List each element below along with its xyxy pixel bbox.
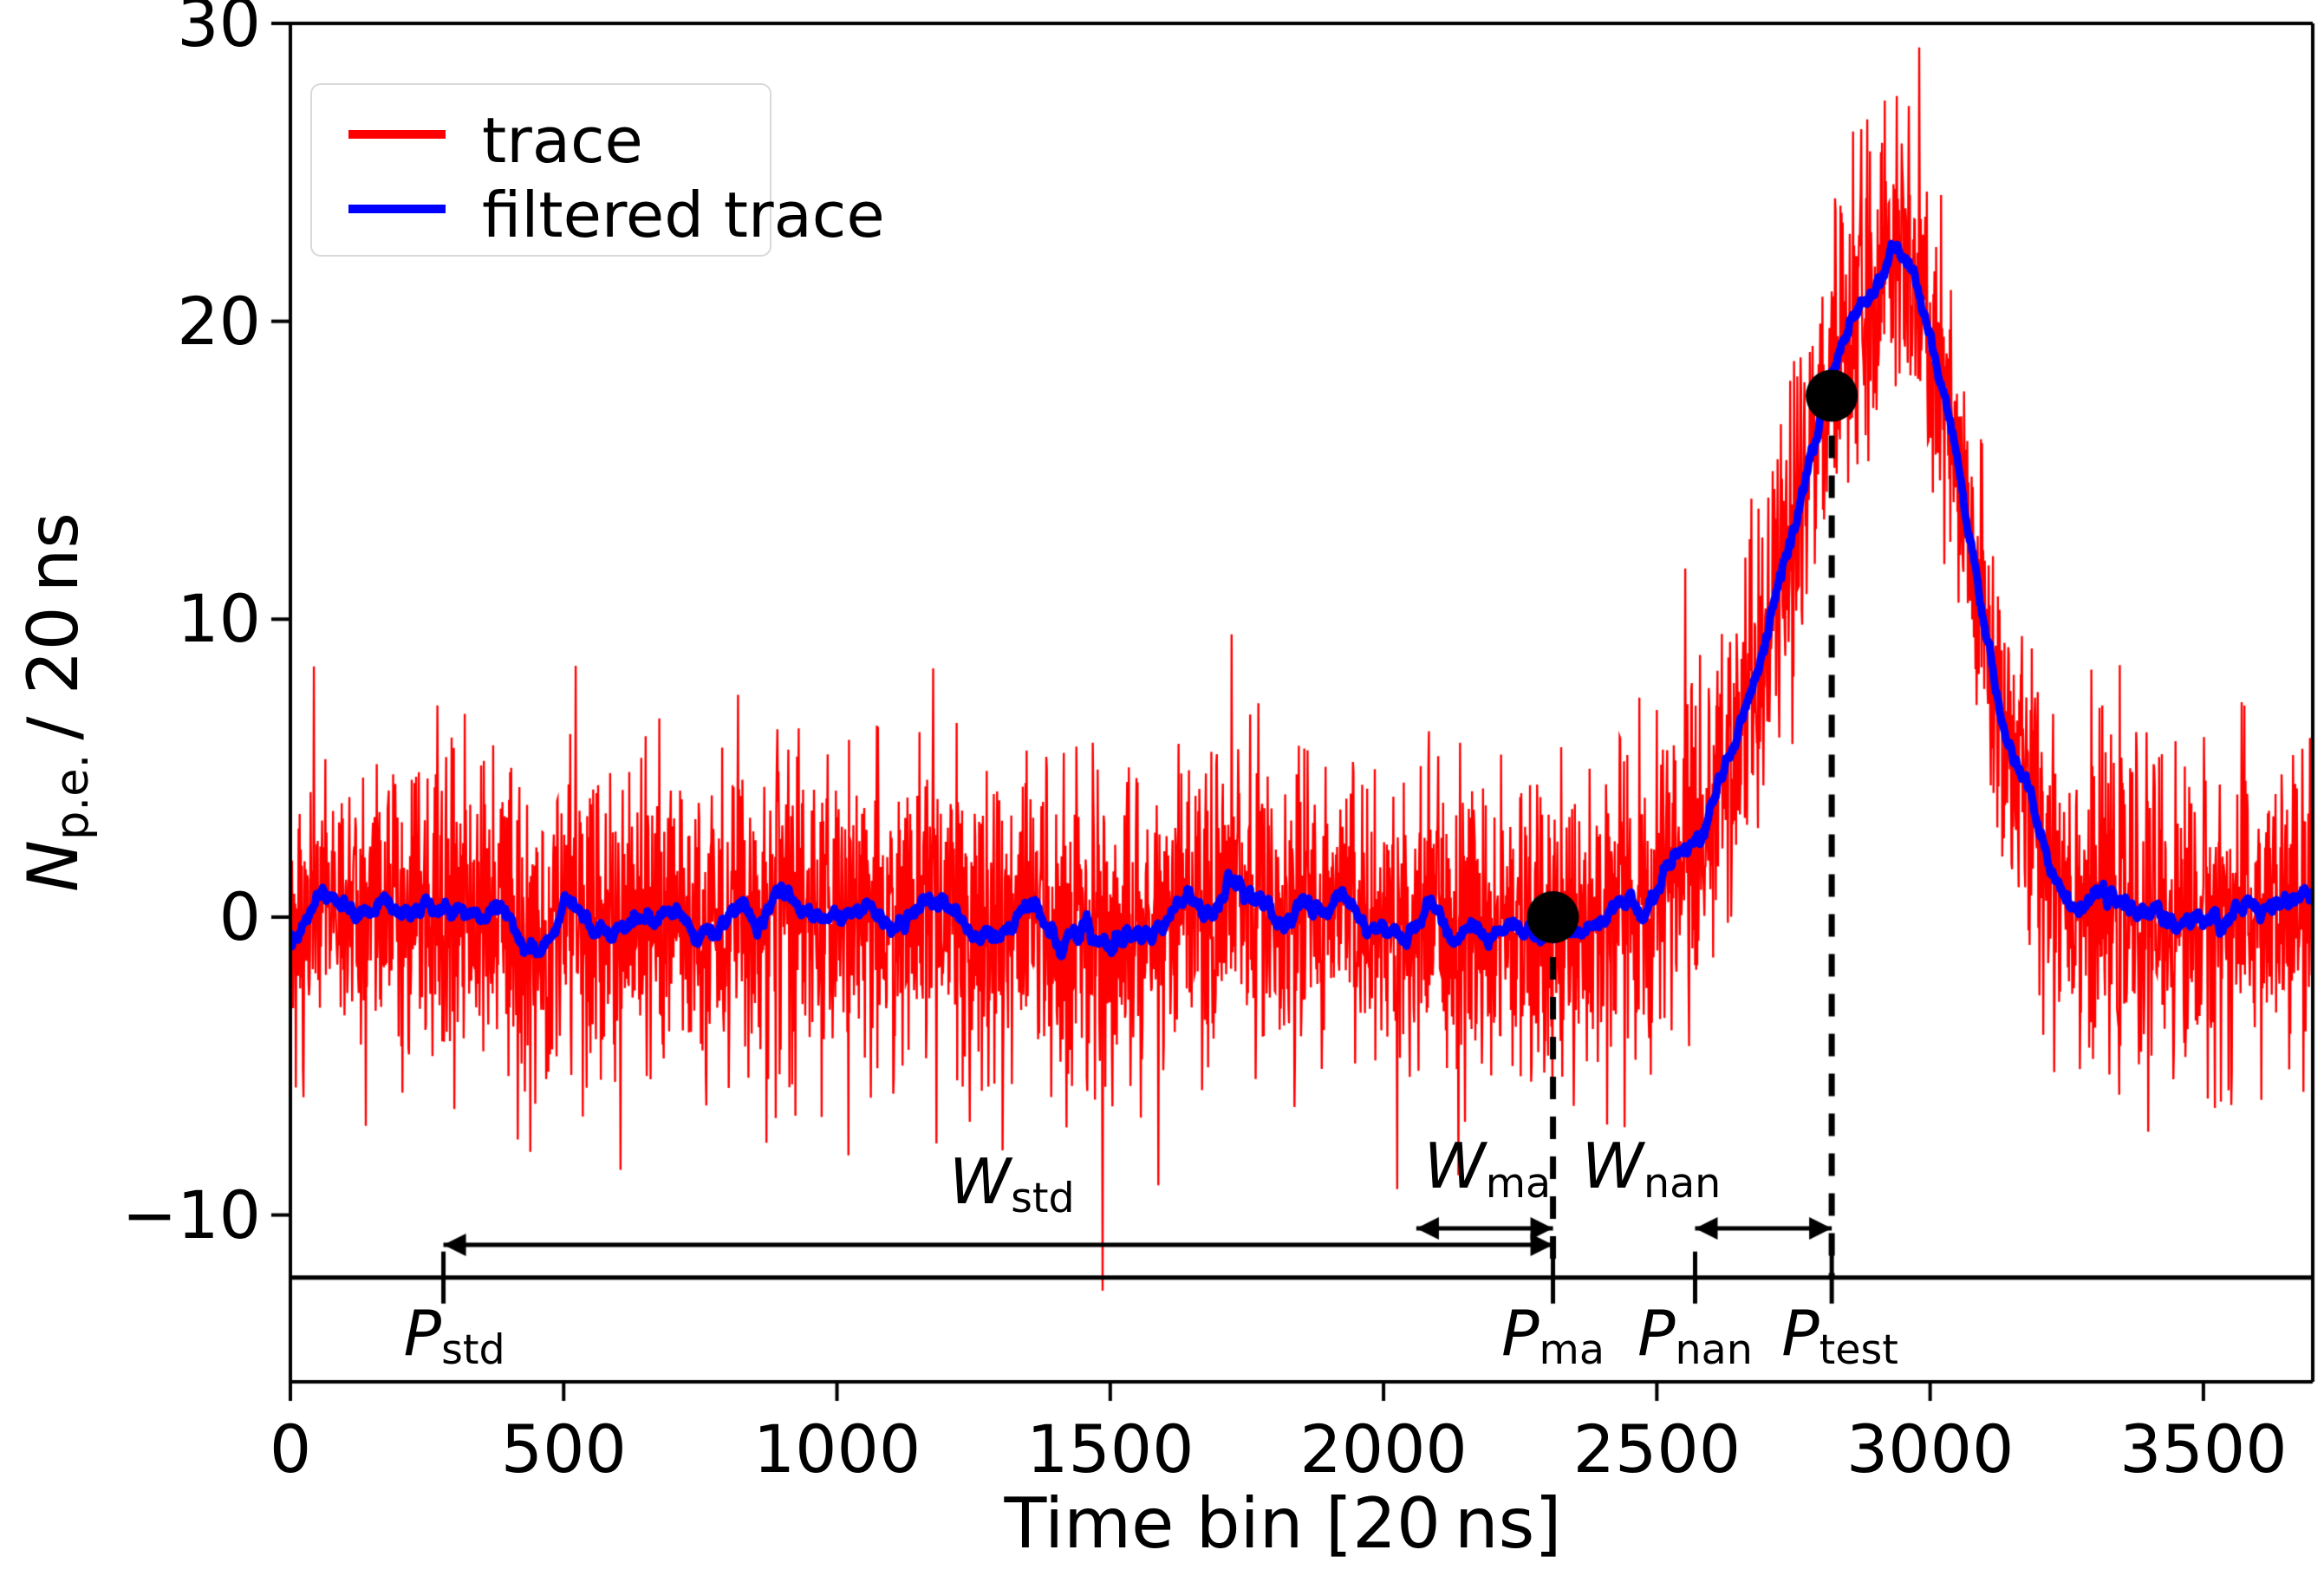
legend-label-filtered-trace: filtered trace <box>482 179 885 251</box>
x-axis-title-main: Time bin [20 <box>1005 1483 1441 1564</box>
legend-swatch-trace <box>348 130 446 139</box>
x-tick-label-3000: 3000 <box>1846 1416 2014 1482</box>
y-axis-unit: ns <box>13 512 94 592</box>
x-axis-title: Time bin [20 ns] <box>1005 1489 1562 1559</box>
figure-container: trace filtered trace Time bin [20 ns] Np… <box>0 0 2324 1576</box>
y-tick-label-3: 20 <box>177 289 261 355</box>
legend: trace filtered trace <box>310 83 771 257</box>
x-tick-label-2000: 2000 <box>1299 1416 1467 1482</box>
x-tick-label-0: 0 <box>270 1416 311 1482</box>
y-axis-subscript: p.e. <box>46 754 99 841</box>
point-label-P-test: Ptest <box>1781 1302 1898 1364</box>
x-tick-label-1000: 1000 <box>753 1416 921 1482</box>
window-label-W-ma: Wma <box>1424 1135 1552 1197</box>
legend-label-trace: trace <box>482 104 643 177</box>
y-axis-symbol: N <box>13 840 94 892</box>
window-label-W-std: Wstd <box>949 1150 1075 1213</box>
y-tick-label-0: −10 <box>122 1182 261 1248</box>
legend-swatch-filtered-trace <box>348 205 446 213</box>
y-tick-label-4: 30 <box>177 0 261 56</box>
point-label-P-ma: Pma <box>1501 1302 1605 1364</box>
legend-entry-filtered-trace: filtered trace <box>312 172 770 246</box>
x-axis-title-unit: ns] <box>1455 1483 1562 1564</box>
window-label-W-nan: Wnan <box>1582 1135 1722 1197</box>
point-label-P-std: Pstd <box>404 1302 505 1364</box>
y-axis-rest: / 20 <box>13 606 94 739</box>
x-tick-label-500: 500 <box>501 1416 627 1482</box>
x-tick-label-2500: 2500 <box>1573 1416 1741 1482</box>
y-axis-title: Np.e. / 20 ns <box>19 512 88 892</box>
y-tick-label-1: 0 <box>219 884 261 950</box>
x-tick-label-3500: 3500 <box>2119 1416 2287 1482</box>
point-label-P-nan: Pnan <box>1637 1302 1753 1364</box>
legend-entry-trace: trace <box>312 97 770 172</box>
x-tick-label-1500: 1500 <box>1026 1416 1194 1482</box>
y-tick-label-2: 10 <box>177 586 261 652</box>
